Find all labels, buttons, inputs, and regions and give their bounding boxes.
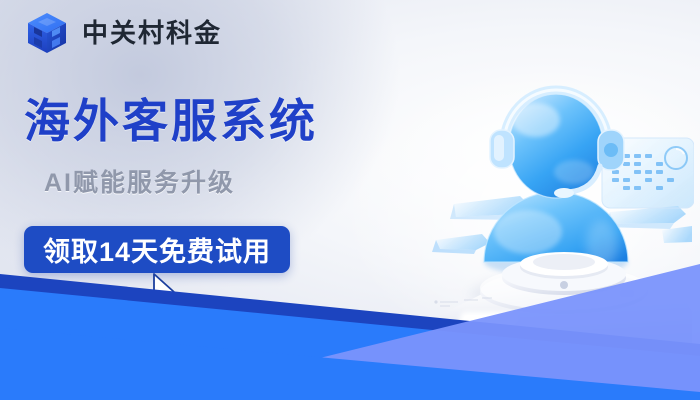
page-subtitle: AI赋能服务升级	[44, 170, 235, 198]
brand-name: 中关村科金	[82, 20, 222, 46]
page-title: 海外客服系统	[24, 96, 318, 148]
cube-logo-icon	[24, 10, 70, 56]
diagonal-band-group	[0, 260, 700, 400]
promo-banner: 中关村科金 海外客服系统 AI赋能服务升级 领取14天免费试用	[0, 0, 700, 400]
brand-logo[interactable]: 中关村科金	[24, 10, 222, 56]
